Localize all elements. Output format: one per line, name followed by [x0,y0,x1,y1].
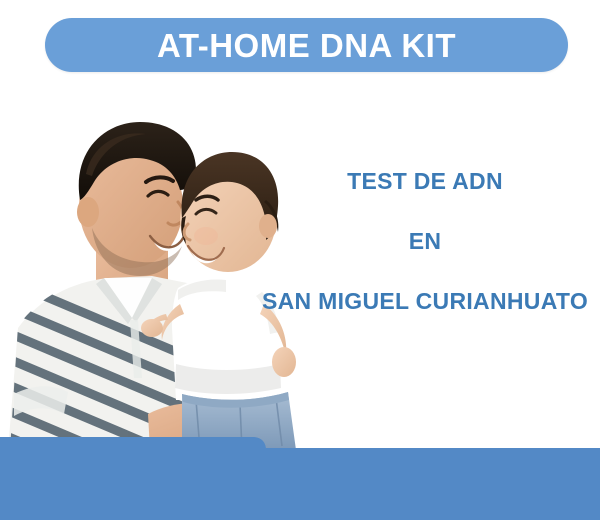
dna-kit-banner: AT-HOME DNA KIT [0,0,600,520]
headline-line-2: EN [250,230,600,253]
header-pill: AT-HOME DNA KIT [45,18,568,72]
header-title: AT-HOME DNA KIT [157,29,456,62]
footer-contact-bar: www.homednapaternitykit.com 1-877-219-44… [0,430,600,520]
headline-block: TEST DE ADN EN SAN MIGUEL CURIANHUATO [250,160,600,320]
headline-line-1: TEST DE ADN [250,170,600,193]
headline-line-3: SAN MIGUEL CURIANHUATO [250,290,600,313]
